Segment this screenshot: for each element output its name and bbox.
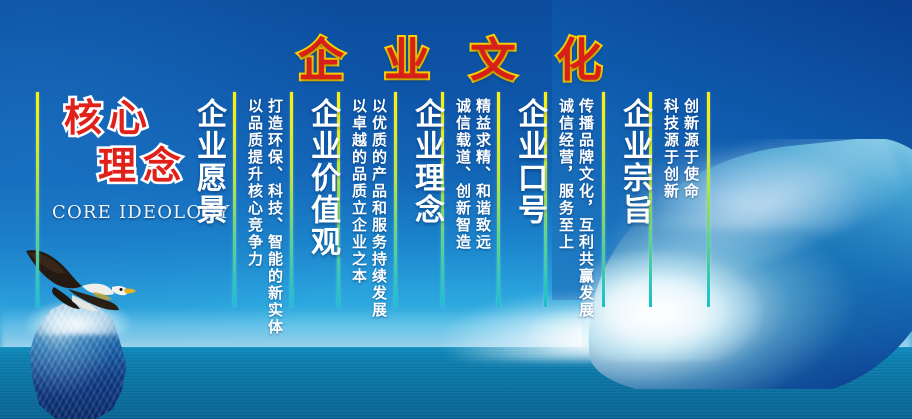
- divider-4: [394, 92, 397, 307]
- divider-6: [497, 92, 500, 307]
- divider-1: [233, 92, 236, 307]
- section-line-3-1: 诚信经营，服务至上: [556, 98, 577, 251]
- divider-2: [290, 92, 293, 307]
- content-panel: 核心 理念 CORE IDEOLOGY 企业愿景 以品质提升核心竞争力 打造环保…: [0, 92, 912, 317]
- section-line-4-0: 创新源于使命: [681, 98, 702, 200]
- section-line-1-0: 以优质的产品和服务持续发展: [369, 98, 390, 319]
- divider-0: [36, 92, 39, 307]
- divider-8: [602, 92, 605, 307]
- section-line-0-0: 打造环保、科技、智能的新实体: [265, 98, 286, 336]
- section-heading-4: 企业宗旨: [612, 98, 656, 226]
- section-line-2-0: 精益求精、和谐致远: [473, 98, 494, 251]
- page-title: 企 业 文 化: [0, 24, 912, 90]
- section-heading-2: 企业理念: [404, 98, 448, 226]
- section-heading-1: 企业价值观: [300, 98, 344, 258]
- section-line-1-1: 以卓越的品质立企业之本: [349, 98, 370, 285]
- section-heading-0: 企业愿景: [186, 98, 230, 226]
- section-line-4-1: 科技源于创新: [661, 98, 682, 200]
- section-line-0-1: 以品质提升核心竞争力: [245, 98, 266, 268]
- section-line-3-0: 传播品牌文化，互利共赢发展: [576, 98, 597, 319]
- section-heading-3: 企业口号: [507, 98, 551, 226]
- section-line-2-1: 诚信载道、创新智造: [453, 98, 474, 251]
- corporate-culture-poster: 企 业 文 化 核心 理念 CORE IDEOLOGY 企业愿景 以品质提升核心…: [0, 0, 912, 419]
- divider-10: [707, 92, 710, 307]
